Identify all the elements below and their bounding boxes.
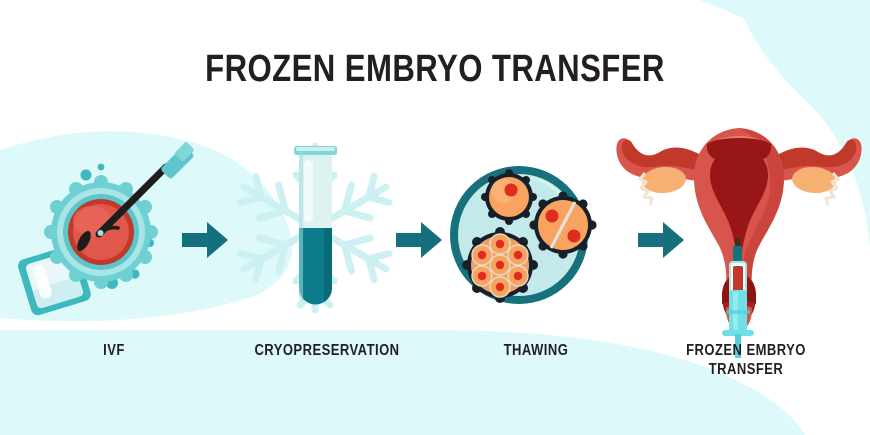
embryo-single-cell [481,169,537,225]
arrow-ivf-to-cryopreservation [182,222,228,258]
infographic-canvas: FROZEN EMBRYO TRANSFER IVF CRYOPRESERVAT… [0,0,870,435]
test-tube-highlight [304,160,313,222]
step-label-cryopreservation: CRYOPRESERVATION [249,341,405,360]
nucleus [546,210,559,223]
step-label-thawing: THAWING [469,341,603,360]
nucleus [568,230,581,243]
arrow-thawing-to-transfer [638,222,684,258]
nucleus [505,184,518,197]
snowflake-test-tube-icon [234,146,395,310]
step-label-ivf: IVF [47,341,181,360]
egg-injection-icon [16,141,194,317]
arrow-cryopreservation-to-thawing [396,222,442,258]
petri-dish-embryos-icon [450,166,597,304]
step-label-transfer: FROZEN EMBRYO TRANSFER [662,341,830,379]
test-tube [294,146,337,305]
page-title: FROZEN EMBRYO TRANSFER [78,48,791,91]
embryo-two-cell [529,191,596,258]
